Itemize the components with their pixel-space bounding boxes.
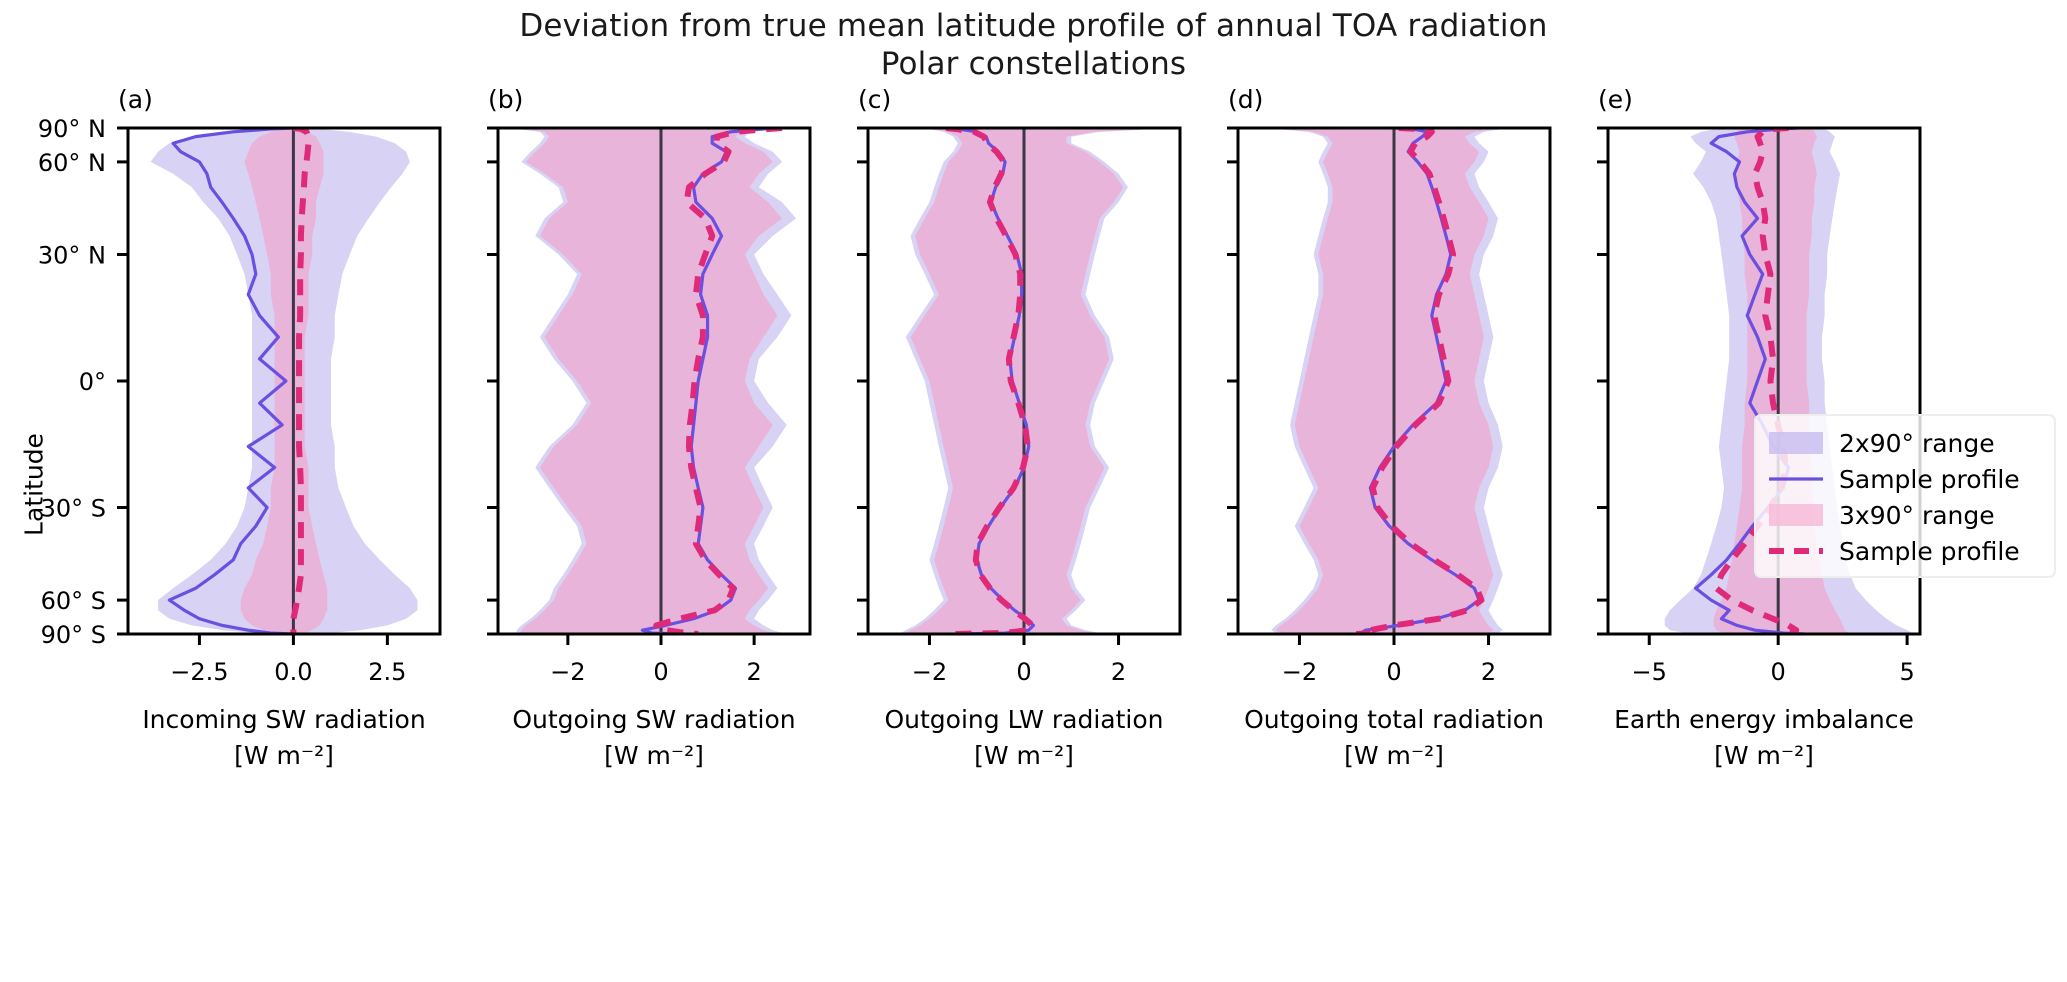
panel-label-b: (b)	[488, 85, 523, 114]
panel-d: (d)−202Outgoing total radiation[W m⁻²]	[1227, 85, 1550, 770]
x-axis-units-a: [W m⁻²]	[234, 741, 334, 770]
x-axis-units-b: [W m⁻²]	[604, 741, 704, 770]
panel-label-e: (e)	[1598, 85, 1633, 114]
x-axis-units-e: [W m⁻²]	[1714, 741, 1814, 770]
legend-swatch-0	[1769, 432, 1823, 454]
panel-label-c: (c)	[858, 85, 891, 114]
panel-a: (a)−2.50.02.5Incoming SW radiation[W m⁻²…	[38, 85, 440, 770]
legend-label-2: 3x90° range	[1839, 501, 1995, 530]
panel-content-a	[151, 128, 418, 634]
legend-label-1: Sample profile	[1839, 465, 2020, 494]
y-tick-label-6: 90° S	[41, 621, 106, 649]
y-tick-label-2: 30° N	[38, 242, 106, 270]
legend: 2x90° rangeSample profile3x90° rangeSamp…	[1755, 415, 2055, 577]
x-tick-label-b-2: 2	[746, 658, 761, 686]
y-tick-label-4: 30° S	[41, 495, 106, 523]
x-axis-label-d: Outgoing total radiation	[1244, 705, 1544, 734]
legend-label-0: 2x90° range	[1839, 429, 1995, 458]
x-tick-label-d-1: 0	[1386, 658, 1401, 686]
x-tick-label-b-1: 0	[653, 658, 668, 686]
panel-label-d: (d)	[1228, 85, 1263, 114]
x-tick-label-e-1: 0	[1771, 658, 1786, 686]
x-axis-label-b: Outgoing SW radiation	[512, 705, 795, 734]
y-tick-label-3: 0°	[79, 368, 106, 396]
x-axis-units-d: [W m⁻²]	[1344, 741, 1444, 770]
plot-canvas: (a)−2.50.02.5Incoming SW radiation[W m⁻²…	[0, 0, 2067, 982]
x-axis-label-c: Outgoing LW radiation	[884, 705, 1163, 734]
x-tick-label-c-1: 0	[1016, 658, 1031, 686]
x-tick-label-c-2: 2	[1111, 658, 1126, 686]
x-axis-label-e: Earth energy imbalance	[1614, 705, 1914, 734]
y-tick-label-5: 60° S	[41, 587, 106, 615]
panel-content-b	[512, 128, 801, 634]
panel-content-d	[1271, 128, 1522, 634]
x-tick-label-a-2: 2.5	[368, 658, 406, 686]
x-tick-label-a-0: −2.5	[170, 658, 228, 686]
x-axis-units-c: [W m⁻²]	[974, 741, 1074, 770]
figure-root: Deviation from true mean latitude profil…	[0, 0, 2067, 982]
panel-label-a: (a)	[118, 85, 153, 114]
panel-content-c	[901, 128, 1175, 634]
x-tick-label-a-1: 0.0	[274, 658, 312, 686]
y-tick-label-1: 60° N	[38, 149, 106, 177]
x-tick-label-e-0: −5	[1632, 658, 1667, 686]
band-3x90-c	[906, 128, 1171, 634]
x-tick-label-d-2: 2	[1481, 658, 1496, 686]
legend-swatch-2	[1769, 504, 1823, 526]
y-tick-label-0: 90° N	[38, 115, 106, 143]
panel-c: (c)−202Outgoing LW radiation[W m⁻²]	[857, 85, 1180, 770]
x-tick-label-d-0: −2	[1282, 658, 1317, 686]
legend-label-3: Sample profile	[1839, 537, 2020, 566]
x-tick-label-b-0: −2	[550, 658, 585, 686]
panel-b: (b)−202Outgoing SW radiation[W m⁻²]	[487, 85, 810, 770]
x-tick-label-c-0: −2	[912, 658, 947, 686]
x-tick-label-e-2: 5	[1899, 658, 1914, 686]
x-axis-label-a: Incoming SW radiation	[142, 705, 425, 734]
